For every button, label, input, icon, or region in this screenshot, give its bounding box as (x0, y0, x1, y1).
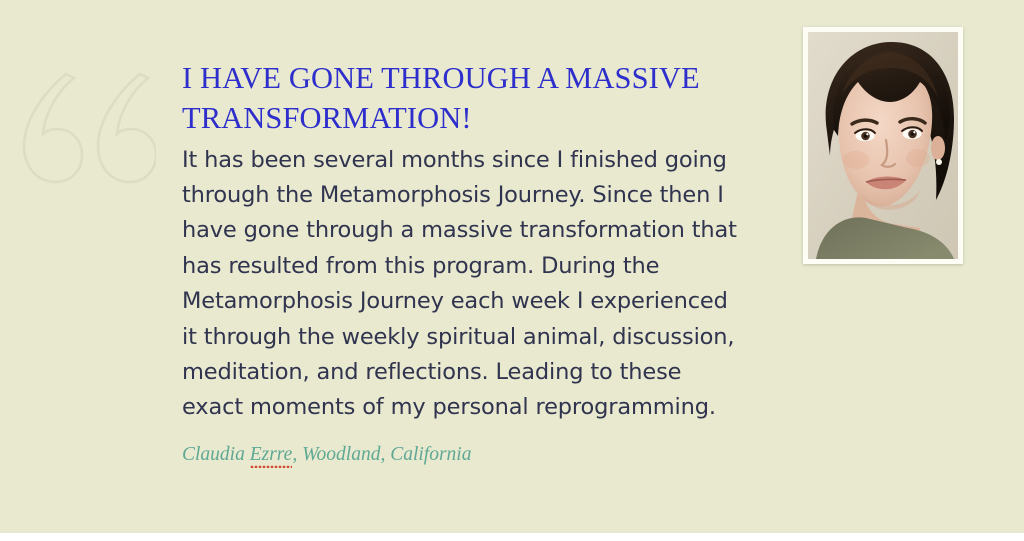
testimonial-text-block: I have gone through a massive transforma… (182, 58, 748, 467)
bottom-white-strip (0, 533, 1024, 541)
attribution-separator: , (292, 444, 302, 465)
attribution-location: Woodland, California (302, 444, 471, 465)
testimonial-card: I have gone through a massive transforma… (0, 0, 1024, 533)
testimonial-heading: I have gone through a massive transforma… (182, 58, 748, 139)
testimonial-attribution: Claudia Ezrre, Woodland, California (182, 442, 748, 467)
portrait-photo (808, 32, 958, 259)
attribution-first-name: Claudia (182, 444, 245, 465)
quote-mark-icon (16, 62, 156, 190)
portrait-frame (803, 27, 963, 264)
testimonial-body-text: It has been several months since I finis… (182, 143, 748, 426)
attribution-last-name: Ezrre (250, 444, 293, 465)
